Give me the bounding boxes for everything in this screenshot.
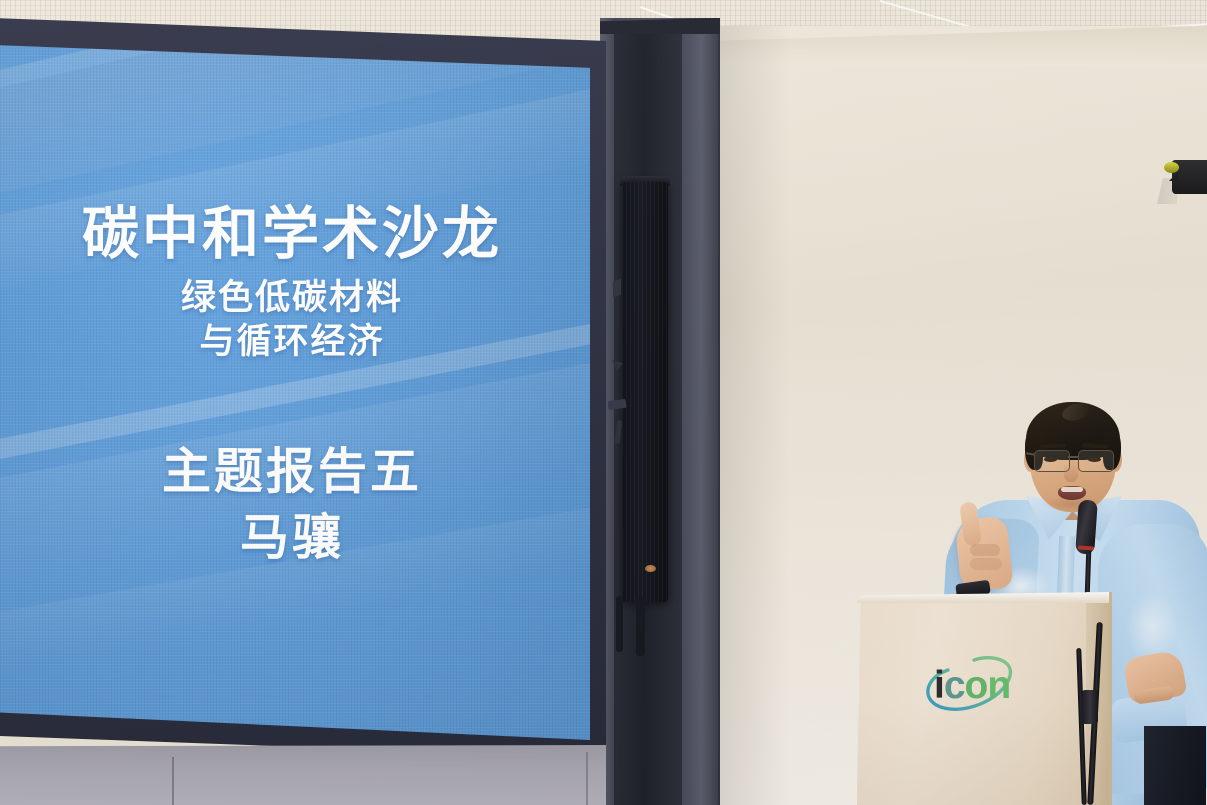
nose xyxy=(1064,464,1078,482)
slide-subtitle-2: 与循环经济 xyxy=(0,321,590,362)
teeth xyxy=(1061,487,1083,492)
logo-letter-n: n xyxy=(987,664,1010,707)
led-presentation-screen[interactable]: 碳中和学术沙龙 绿色低碳材料 与循环经济 主题报告五 马骧 xyxy=(0,45,590,740)
wall-panel-seam xyxy=(586,752,588,805)
logo-letter-o: o xyxy=(965,664,988,707)
slide-title: 碳中和学术沙龙 xyxy=(0,205,590,265)
eye-left xyxy=(1044,457,1057,462)
logo-letter-i: i xyxy=(934,664,944,707)
column-right-edge xyxy=(682,22,718,805)
shirt-highlight xyxy=(1126,592,1178,662)
speaker-mount-clip xyxy=(613,279,621,298)
wall-device-lens-icon xyxy=(1164,162,1179,173)
conference-photo-scene: 碳中和学术沙龙 绿色低碳材料 与循环经济 主题报告五 马骧 xyxy=(0,0,1207,805)
logo-letter-c: c xyxy=(944,664,965,707)
speaker-cable xyxy=(636,596,645,656)
eye-right xyxy=(1088,457,1101,462)
cable-connector-box xyxy=(1082,690,1098,724)
speaker-cable xyxy=(616,596,623,652)
slide-session-label: 主题报告五 xyxy=(0,445,590,500)
knuckle-crease xyxy=(970,558,1002,570)
podium-logo: icon xyxy=(918,648,1038,722)
slide-speaker-name: 马骧 xyxy=(0,511,590,566)
trousers xyxy=(1144,726,1206,805)
knuckle-crease xyxy=(970,544,1000,556)
speaker-badge xyxy=(645,565,656,572)
slide-subtitle-1: 绿色低碳材料 xyxy=(0,277,590,318)
slide-text-block: 碳中和学术沙龙 绿色低碳材料 与循环经济 主题报告五 马骧 xyxy=(0,45,590,740)
wall-panel-seam xyxy=(172,757,174,805)
podium-logo-text: icon xyxy=(934,666,1010,705)
glasses-bridge xyxy=(1068,456,1078,458)
lower-wall-panel xyxy=(0,745,606,805)
line-array-speaker xyxy=(622,182,668,602)
